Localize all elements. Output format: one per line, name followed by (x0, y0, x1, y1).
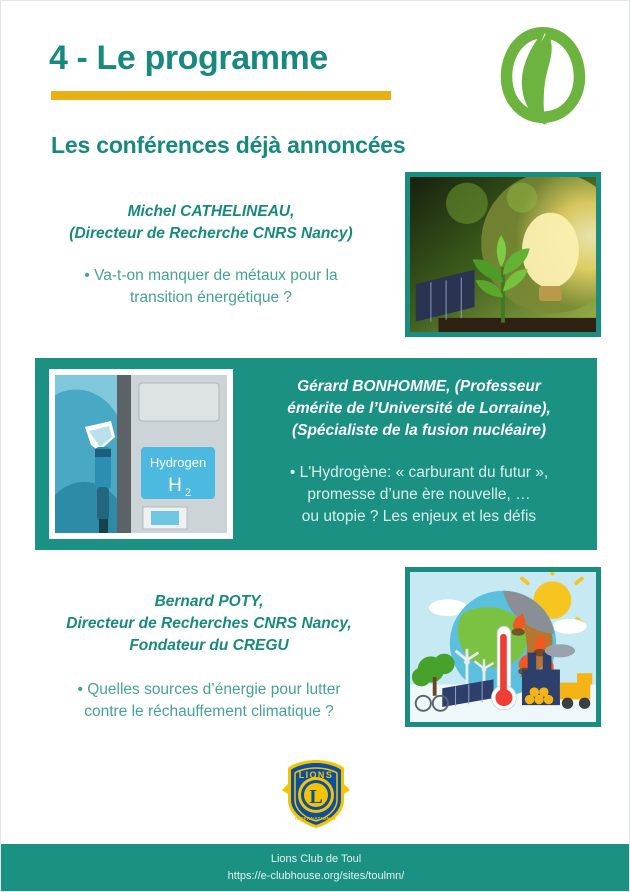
page-subtitle: Les conférences déjà annoncées (51, 132, 406, 159)
speaker-name: Bernard POTY,Directeur de Recherches CNR… (21, 591, 397, 657)
conference-topic: • L'Hydrogène: « carburant du futur »,pr… (249, 462, 589, 528)
green-leaf-circle-logo-icon (495, 23, 591, 127)
slide-root: 4 - Le programme Les conférences déjà an… (0, 0, 630, 892)
photo-hydrogen-pump: Hydrogen H 2 (49, 369, 233, 539)
conference-block-bonhomme-text: Gérard BONHOMME, (Professeurémérite de l… (249, 376, 589, 528)
footer-bar: Lions Club de Toul https://e-clubhouse.o… (1, 844, 630, 892)
speaker-name: Gérard BONHOMME, (Professeurémérite de l… (249, 376, 589, 442)
hydrogen-sign-label: Hydrogen (150, 455, 206, 470)
speaker-name: Michel CATHELINEAU,(Directeur de Recherc… (25, 201, 397, 245)
svg-text:2: 2 (185, 487, 191, 499)
lions-club-international-logo-icon: L LIONS INTERNATIONAL (282, 758, 350, 830)
photo-plant-lightbulb (405, 172, 601, 337)
lions-logo-bottom-text: INTERNATIONAL (295, 816, 337, 821)
footer-url[interactable]: https://e-clubhouse.org/sites/toulmn/ (1, 868, 630, 885)
title-underline-rule (51, 91, 391, 100)
photo-global-warming-illustration (405, 567, 601, 727)
conference-block-cathelineau: Michel CATHELINEAU,(Directeur de Recherc… (25, 201, 397, 309)
footer-organization: Lions Club de Toul (1, 844, 630, 868)
conference-block-poty: Bernard POTY,Directeur de Recherches CNR… (21, 591, 397, 723)
lions-logo-top-text: LIONS (299, 770, 334, 780)
conference-topic: • Quelles sources d’énergie pour lutterc… (21, 679, 397, 723)
lions-logo-center-letter: L (309, 786, 322, 808)
conference-topic: • Va-t-on manquer de métaux pour latrans… (25, 265, 397, 309)
svg-text:H: H (168, 475, 182, 496)
page-title: 4 - Le programme (49, 39, 328, 78)
